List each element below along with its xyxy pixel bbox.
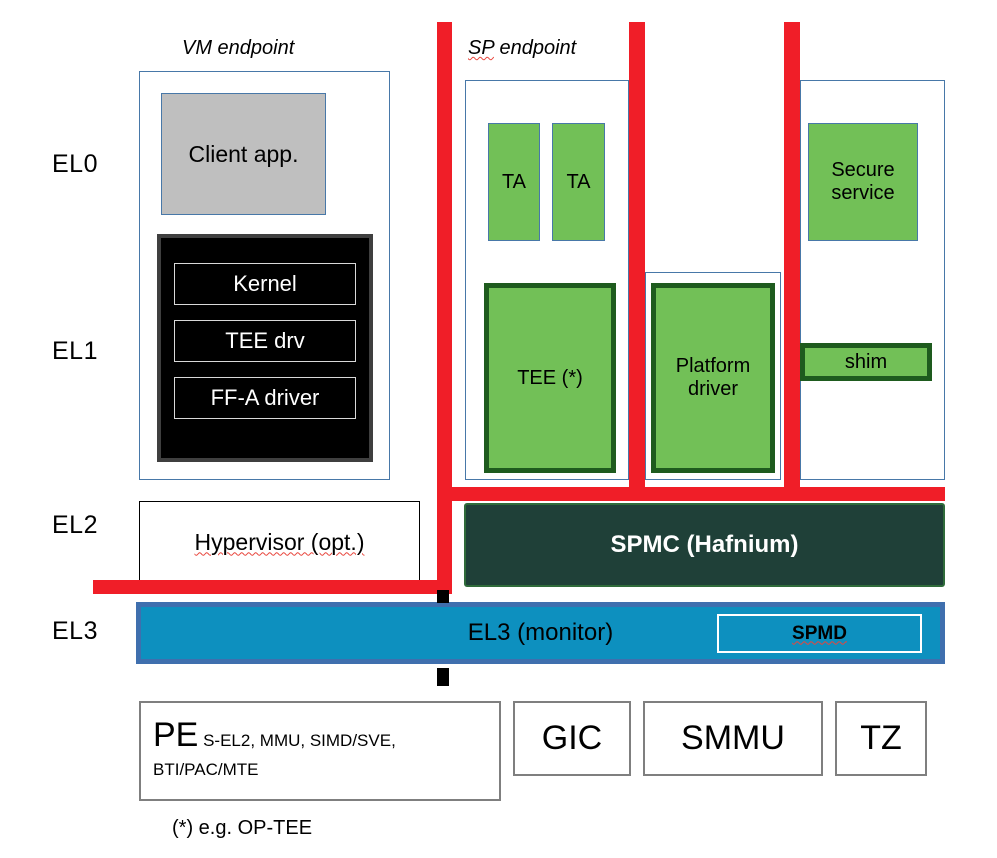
level-label-el2: EL2 bbox=[52, 511, 98, 540]
connector-square-lower bbox=[437, 668, 449, 686]
spmd-label: SPMD bbox=[792, 623, 847, 645]
security-boundary-vertical-3 bbox=[784, 22, 800, 500]
el3-monitor-label: EL3 (monitor) bbox=[468, 619, 613, 647]
sp-secure-service-line2: service bbox=[831, 182, 894, 205]
hw-pe-features-line1: S-EL2, MMU, SIMD/SVE, bbox=[203, 731, 396, 750]
client-app-box[interactable]: Client app. bbox=[161, 93, 326, 215]
hypervisor-box[interactable]: Hypervisor (opt.) bbox=[139, 501, 420, 583]
sp-platform-driver-line1: Platform bbox=[676, 355, 750, 378]
vm-stack-item-tee-drv[interactable]: TEE drv bbox=[174, 320, 356, 362]
vm-stack-item-tee-drv-label: TEE drv bbox=[225, 328, 304, 354]
hw-pe-features-line2: BTI/PAC/MTE bbox=[153, 760, 258, 779]
vm-endpoint-caption: VM endpoint bbox=[182, 37, 294, 60]
hw-tz-label: TZ bbox=[860, 719, 902, 758]
hw-smmu-box[interactable]: SMMU bbox=[643, 701, 823, 776]
sp-shim-box[interactable]: shim bbox=[800, 343, 932, 381]
level-label-el3: EL3 bbox=[52, 617, 98, 646]
spmc-box[interactable]: SPMC (Hafnium) bbox=[464, 503, 945, 587]
sp-endpoint-caption: SP endpoint bbox=[468, 37, 576, 60]
hw-gic-box[interactable]: GIC bbox=[513, 701, 631, 776]
sp-secure-service-box[interactable]: Secure service bbox=[808, 123, 918, 241]
sp-ta-box-2[interactable]: TA bbox=[552, 123, 605, 241]
security-boundary-horizontal-normal bbox=[93, 580, 452, 594]
sp-tee-box[interactable]: TEE (*) bbox=[484, 283, 616, 473]
level-label-el1: EL1 bbox=[52, 337, 98, 366]
spmd-box[interactable]: SPMD bbox=[717, 614, 922, 653]
hw-pe-box[interactable]: PE S-EL2, MMU, SIMD/SVE, BTI/PAC/MTE bbox=[139, 701, 501, 801]
diagram-canvas: EL0 EL1 EL2 EL3 VM endpoint SP endpoint … bbox=[0, 0, 997, 858]
security-boundary-vertical-2 bbox=[629, 22, 645, 500]
vm-stack-item-ffa-driver[interactable]: FF-A driver bbox=[174, 377, 356, 419]
sp-ta-box-1[interactable]: TA bbox=[488, 123, 540, 241]
sp-endpoint-caption-prefix: SP bbox=[468, 37, 494, 59]
sp-secure-service-line1: Secure bbox=[831, 159, 894, 182]
vm-software-stack: Kernel TEE drv FF-A driver bbox=[157, 234, 373, 462]
hypervisor-label: Hypervisor (opt.) bbox=[195, 529, 365, 556]
hw-smmu-label: SMMU bbox=[681, 719, 785, 758]
sp-endpoint-caption-suffix: endpoint bbox=[494, 37, 576, 59]
hw-pe-name: PE bbox=[153, 716, 198, 754]
sp-platform-driver-box[interactable]: Platform driver bbox=[651, 283, 775, 473]
hw-gic-label: GIC bbox=[542, 719, 602, 758]
vm-stack-item-kernel[interactable]: Kernel bbox=[174, 263, 356, 305]
footnote-text: (*) e.g. OP-TEE bbox=[172, 817, 312, 840]
security-boundary-horizontal-secure bbox=[437, 487, 945, 501]
hw-tz-box[interactable]: TZ bbox=[835, 701, 927, 776]
level-label-el0: EL0 bbox=[52, 150, 98, 179]
security-boundary-vertical-1 bbox=[437, 22, 452, 594]
sp-platform-driver-line2: driver bbox=[676, 378, 750, 401]
connector-square-upper bbox=[437, 590, 449, 603]
